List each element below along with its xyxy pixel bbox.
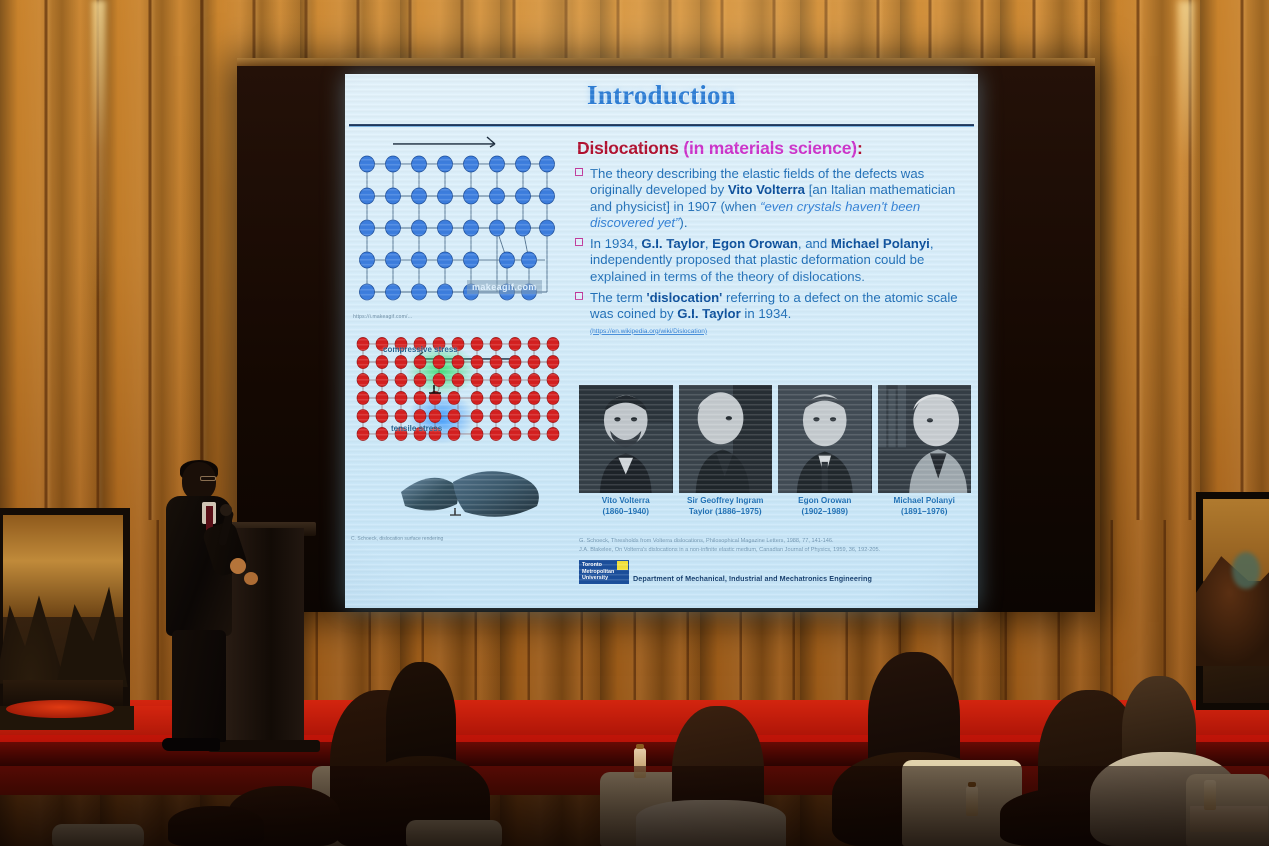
portrait-caption-4: Michael Polanyi(1891–1976)	[878, 496, 972, 530]
painting-right	[1196, 492, 1269, 710]
lattice-source-note: https://i.makeagif.com/...	[353, 314, 412, 320]
dislocation-surface-3d-figure	[399, 462, 549, 534]
bullet-item-2: In 1934, G.I. Taylor, Egon Orowan, and M…	[575, 236, 971, 285]
reference-2: J.A. Blakelee, On Volterra's dislocation…	[579, 546, 978, 555]
speaker-hand-second	[244, 572, 258, 585]
compressive-stress-label: compressive stress	[383, 345, 458, 354]
title-divider	[349, 124, 974, 127]
makeagif-watermark: makeagif.com	[467, 280, 542, 294]
speaker-head	[182, 462, 216, 500]
bullet-square-icon	[575, 168, 583, 176]
painting-left	[0, 508, 130, 718]
portrait-caption-2: Sir Geoffrey IngramTaylor (1886–1975)	[679, 496, 773, 530]
surface-source-note: C. Schoeck, dislocation surface renderin…	[351, 536, 443, 542]
wall-light-left	[92, 0, 106, 300]
tensile-stress-label: tensile stress	[391, 424, 442, 433]
dislocations-heading: Dislocations (in materials science):	[577, 138, 863, 159]
speaker-hand	[230, 558, 246, 574]
speaker	[160, 462, 260, 754]
shear-arrow-top-icon	[391, 135, 503, 149]
red-display-object-left	[6, 700, 114, 718]
foreground-shadow	[0, 766, 1269, 846]
logo-line-2: Metropolitan	[582, 569, 614, 575]
toronto-metropolitan-university-logo: Toronto Metropolitan University	[579, 560, 629, 584]
auditorium-scene: Introduction	[0, 0, 1269, 846]
projection-slide: Introduction	[345, 74, 978, 608]
portrait-caption-3: Egon Orowan(1902–1989)	[778, 496, 872, 530]
wall-light-right	[1178, 0, 1194, 320]
portrait-vito-volterra	[579, 385, 673, 493]
reference-list: G. Schoeck, Thresholds from Volterra dis…	[579, 537, 978, 554]
heading-main: Dislocations	[577, 138, 679, 158]
bullet-item-3: The term 'dislocation' referring to a de…	[575, 290, 971, 340]
portrait-captions: Vito Volterra(1860–1940)Sir Geoffrey Ing…	[579, 496, 971, 530]
bottle-cap-1	[636, 744, 644, 749]
wikipedia-link[interactable]: (https://en.wikipedia.org/wiki/Dislocati…	[590, 324, 971, 340]
speaker-glasses	[200, 476, 216, 481]
bullet-square-icon	[575, 238, 583, 246]
heading-parenthetical: (in materials science)	[683, 138, 857, 158]
bullet-list: The theory describing the elastic fields…	[575, 166, 971, 345]
slide-left-column: makeagif.com https://i.makeagif.com/...	[349, 132, 571, 602]
logo-line-1: Toronto	[582, 562, 602, 568]
slide-title: Introduction	[345, 80, 978, 111]
portrait-egon-orowan	[778, 385, 872, 493]
slide-right-column: Dislocations (in materials science): The…	[575, 132, 974, 602]
speaker-legs	[172, 630, 226, 742]
portrait-row	[579, 385, 971, 493]
department-footer: Department of Mechanical, Industrial and…	[633, 574, 872, 583]
heading-colon: :	[857, 138, 863, 158]
microphone-head	[220, 504, 232, 516]
portrait-michael-polanyi	[878, 385, 972, 493]
logo-yellow-mark	[617, 561, 628, 570]
portrait-caption-1: Vito Volterra(1860–1940)	[579, 496, 673, 530]
logo-line-3: University	[582, 575, 608, 581]
bullet-square-icon	[575, 292, 583, 300]
reference-1: G. Schoeck, Thresholds from Volterra dis…	[579, 537, 978, 546]
speaker-shoes	[162, 738, 220, 751]
bullet-item-1: The theory describing the elastic fields…	[575, 166, 971, 231]
portrait-gi-taylor	[679, 385, 773, 493]
